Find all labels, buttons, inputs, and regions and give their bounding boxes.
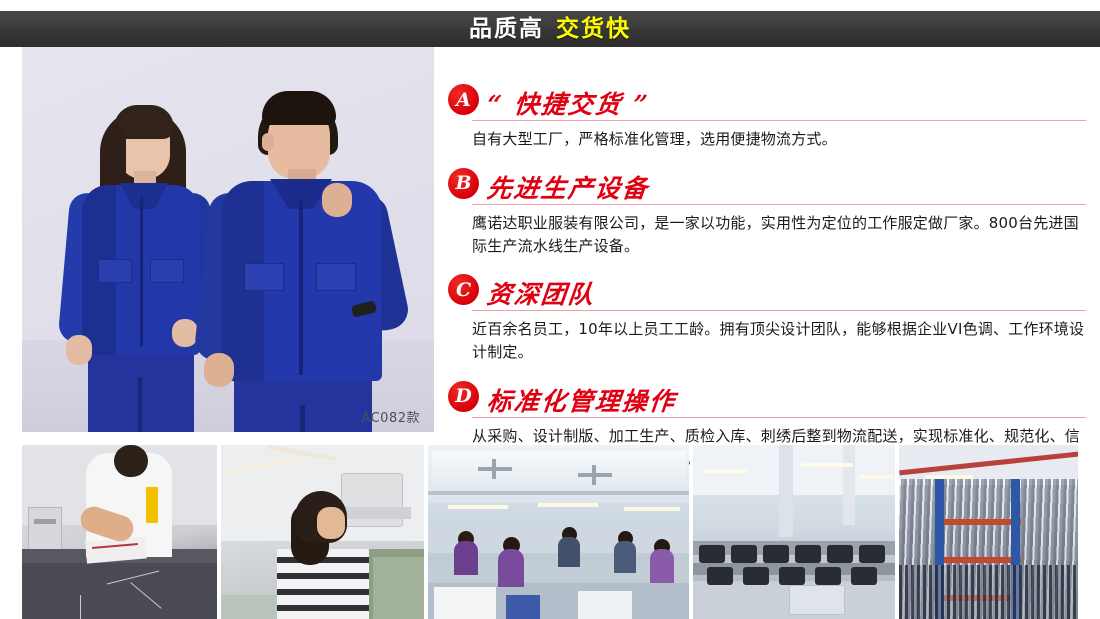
hanging-garment [851,567,877,585]
model-male-hand-left [204,353,234,387]
fabric-pile-highlight [373,557,424,619]
feature-a-rule [472,120,1086,121]
header-bar: 品质高交货快 [0,11,1100,47]
model-female-hand-right [172,319,198,347]
feature-list: A “ 快捷交货 ” 自有大型工厂，严格标准化管理，选用便捷物流方式。 B 先进… [448,78,1086,482]
page-title: 品质高交货快 [469,18,631,41]
factory-gallery-strip [22,445,1078,619]
hanging-garment [827,545,853,563]
fluorescent-tube [448,505,508,509]
model-male-hair-top [262,91,336,125]
feature-a-body: 自有大型工厂，严格标准化管理，选用便捷物流方式。 [472,128,1086,151]
hero-product-photo: AC082款 [22,47,434,432]
worker-body [498,549,524,587]
product-code-label: AC082款 [361,407,420,426]
fluorescent-tube [624,507,680,511]
fluorescent-tube [703,469,747,473]
gallery-photo-sewing-operator [221,445,424,619]
hall-pillar [843,445,855,525]
pattern-marking-line [80,595,81,619]
feature-a-head: A “ 快捷交货 ” [448,78,1086,118]
ceiling-fan-blade [592,465,596,485]
model-female-pocket-right [150,259,184,283]
hanging-garment [859,545,885,563]
worker-body [614,541,636,573]
fluorescent-tube [801,463,853,467]
shirt-stripe [277,605,369,611]
feature-c-rule [472,310,1086,311]
ceiling-fan-blade [492,459,496,479]
gallery-photo-conveyor-line [693,445,894,619]
packed-garment-bags-lower [899,565,1078,619]
worker-body [454,541,478,575]
feature-c-body: 近百余名员工，10年以上员工工龄。拥有顶尖设计团队，能够根据企业VI色调、工作环… [472,318,1086,364]
cutting-worker-apron-strap [146,487,158,523]
transport-cart [789,585,845,615]
gallery-photo-production-workshop [428,445,689,619]
feature-item-a: A “ 快捷交货 ” 自有大型工厂，严格标准化管理，选用便捷物流方式。 [448,78,1086,151]
feature-d-rule [472,417,1086,418]
workshop-window-glare [432,451,686,491]
hanging-garment [743,567,769,585]
feature-b-title: 先进生产设备 [486,176,651,202]
worker-body [650,549,674,583]
blue-garment-bundle [506,595,540,619]
workshop-ceiling-beam [428,491,689,495]
feature-b-head: B 先进生产设备 [448,162,1086,202]
hanging-garment [795,545,821,563]
promo-page: 品质高交货快 [0,0,1100,619]
hanging-garment [731,545,757,563]
model-male-placket [299,199,303,375]
feature-c-title: 资深团队 [486,282,597,308]
gallery-photo-warehouse-racks [899,445,1078,619]
hanging-garment [763,545,789,563]
feature-d-title: 标准化管理操作 [486,389,678,415]
model-female-pocket-left [98,259,132,283]
shirt-stripe [277,573,369,579]
feature-d-head: D 标准化管理操作 [448,375,1086,415]
fluorescent-tube [538,503,598,507]
rack-crossbeam [935,519,1021,525]
feature-b-rule [472,204,1086,205]
model-male-pocket-left [244,263,284,291]
feature-a-title: “ 快捷交货 ” [486,92,651,118]
model-female-placket [140,197,143,347]
feature-item-b: B 先进生产设备 鹰诺达职业服装有限公司，是一家以功能，实用性为定位的工作服定做… [448,162,1086,258]
sewing-table [221,595,281,619]
feature-c-badge: C [448,274,479,305]
rack-crossbeam [935,557,1021,563]
fabric-stack [22,563,217,619]
shirt-stripe [277,589,369,595]
model-male-trouser-seam [300,405,305,432]
fluorescent-tube [859,475,893,479]
hanging-garment [699,545,725,563]
white-garment-bundle [578,591,632,619]
feature-b-badge: B [448,168,479,199]
hanging-garment [779,567,805,585]
page-title-accent: 交货快 [556,16,631,42]
feature-c-head: C 资深团队 [448,268,1086,308]
computer-drive-bay [34,519,56,524]
hall-pillar [779,445,793,537]
feature-b-body: 鹰诺达职业服装有限公司，是一家以功能，实用性为定位的工作服定做厂家。800台先进… [472,212,1086,258]
model-male-pocket-right [316,263,356,291]
worker-body [558,537,580,567]
model-male-ear [262,133,274,151]
white-garment-bundle [434,587,496,619]
page-title-primary: 品质高 [469,16,544,42]
model-female-trouser-seam [138,377,142,432]
model-female-hand-left [66,335,92,365]
feature-a-badge: A [448,84,479,115]
feature-item-c: C 资深团队 近百余名员工，10年以上员工工龄。拥有顶尖设计团队，能够根据企业V… [448,268,1086,364]
hanging-garment [815,567,841,585]
model-male-hand-right [322,183,352,217]
cutting-worker-head [114,445,148,477]
hanging-garment [707,567,733,585]
feature-d-badge: D [448,381,479,412]
gallery-photo-cutting-room [22,445,217,619]
sewing-operator-face [317,507,345,539]
